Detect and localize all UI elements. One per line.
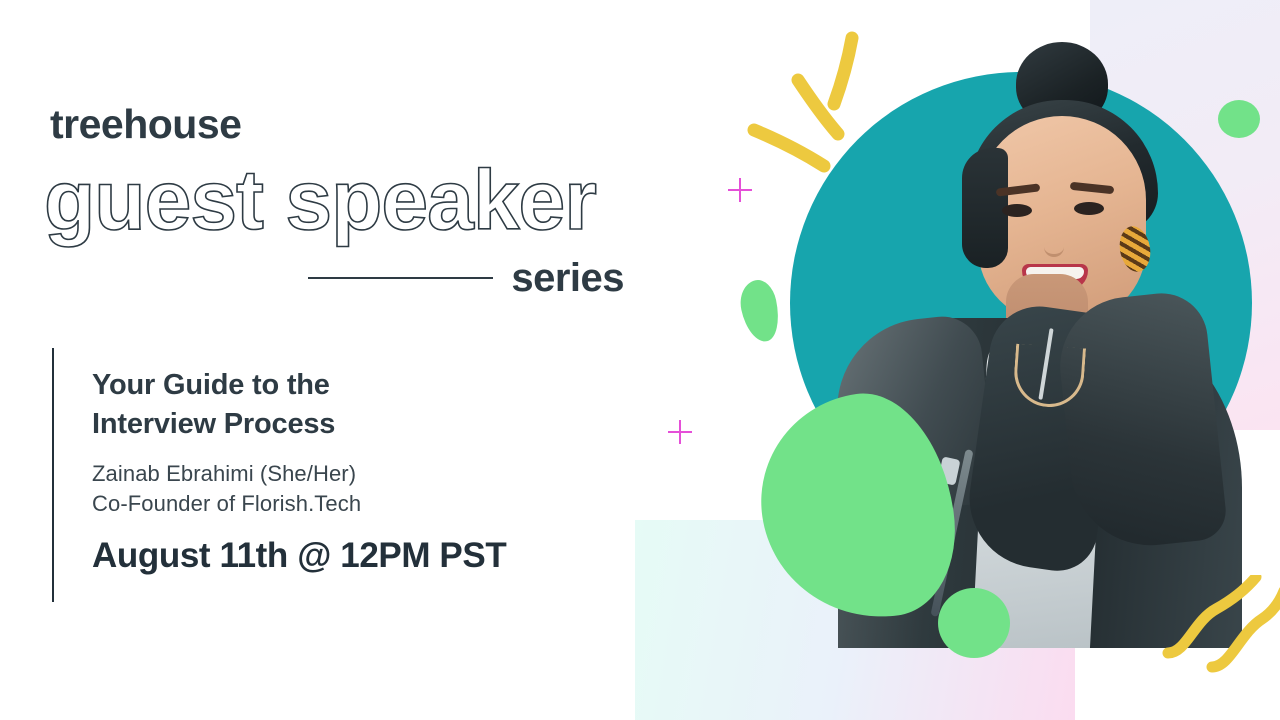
series-divider-rule — [308, 277, 493, 279]
session-title: Your Guide to the Interview Process — [92, 366, 632, 443]
event-datetime: August 11th @ 12PM PST — [92, 536, 632, 576]
magenta-plus-icon-top — [728, 178, 752, 202]
green-blob-small — [736, 277, 784, 345]
session-details: Your Guide to the Interview Process Zain… — [92, 366, 632, 576]
promo-slide: treehouse guest speaker series Your Guid… — [0, 0, 1280, 720]
text-column: treehouse guest speaker series Your Guid… — [0, 0, 680, 720]
green-circle-bottom-icon — [938, 588, 1010, 658]
speaker-role: Co-Founder of Florish.Tech — [92, 489, 632, 519]
eye-left — [1002, 204, 1032, 217]
headline-outline-text: guest speaker — [44, 158, 596, 242]
detail-vertical-rule — [52, 348, 54, 602]
series-label: series — [511, 258, 624, 298]
brand-wordmark: treehouse — [50, 104, 241, 145]
series-row: series — [308, 258, 624, 298]
nose — [1044, 224, 1064, 257]
hair-side — [962, 148, 1008, 268]
speaker-name: Zainab Ebrahimi (She/Her) — [92, 459, 632, 489]
eye-right — [1074, 202, 1104, 215]
